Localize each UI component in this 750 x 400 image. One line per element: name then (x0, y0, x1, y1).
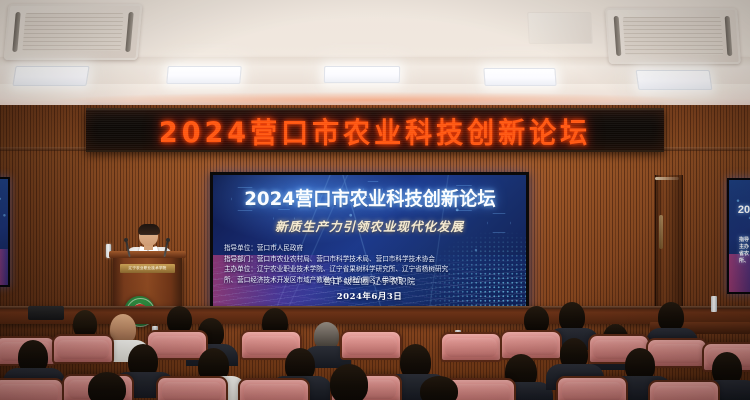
screen-content: 2024营口市农业科技创新论坛 新质生产力引领农业现代化发展 指导单位：营口市人… (213, 175, 526, 309)
desk-monitor (28, 306, 64, 320)
audience-head (88, 372, 126, 400)
auditorium-seat[interactable] (648, 380, 720, 400)
auditorium-seat[interactable] (156, 376, 228, 400)
podium-top-ledge (109, 251, 186, 258)
eyeglasses-icon (140, 234, 157, 239)
left-display-graphic-bottom (0, 249, 8, 285)
auditorium-seat[interactable] (556, 376, 628, 400)
screen-detail-line: 指导单位：营口市人民政府 (224, 244, 515, 254)
screen-venue-text: 营口·鲅鱼圈·辽宁农职院 (213, 276, 526, 287)
ceiling-panel-light (483, 68, 556, 86)
ceiling-ac-unit (605, 8, 741, 64)
right-display-detail-fragment: 省农 (729, 250, 750, 257)
led-scrolling-banner: 2024营口市农业科技创新论坛 (86, 108, 664, 152)
left-display-graphic-top (0, 179, 8, 245)
right-display-title-fragment: 20 (729, 204, 750, 216)
ceiling-panel-light (636, 70, 713, 90)
podium-nameplate-text: 辽宁农业职业技术学院 (129, 266, 167, 271)
screen-detail-line: 主办单位：辽宁农业职业技术学院、辽宁省果树科学研究所、辽宁省杨树研究 (224, 265, 515, 275)
screen-detail-line: 指导部门：营口市农业农村局、营口市科学技术局、营口市科学技术协会 (224, 255, 515, 265)
ac-grille-icon (623, 17, 723, 54)
ac-grille-icon (22, 13, 124, 50)
audience-head (330, 364, 368, 400)
ceiling-panel-light (166, 66, 242, 84)
right-display-detail-fragment: 指导 (729, 236, 750, 243)
ac-louver-bar (125, 12, 133, 52)
auditorium-seat[interactable] (340, 330, 402, 360)
auditorium-seat[interactable] (0, 378, 64, 400)
screen-title: 2024营口市农业科技创新论坛 (244, 184, 495, 211)
auditorium-seat[interactable] (500, 330, 562, 360)
ceiling-panel-light (324, 66, 400, 83)
main-led-screen: 2024营口市农业科技创新论坛 新质生产力引领农业现代化发展 指导单位：营口市人… (210, 172, 529, 312)
left-side-display (0, 177, 10, 287)
ceiling-vent (527, 12, 593, 44)
right-side-display: 20 指导 主办 省农 所、 (727, 178, 750, 294)
ac-louver-bar (614, 16, 622, 56)
podium-nameplate: 辽宁农业职业技术学院 (120, 264, 175, 273)
screen-subtitle: 新质生产力引领农业现代化发展 (275, 216, 464, 235)
auditorium-seat[interactable] (52, 334, 114, 364)
ac-louver-bar (725, 16, 733, 56)
ac-louver-bar (12, 12, 20, 52)
right-display-detail-fragment: 主办 (729, 243, 750, 250)
microphone-head-icon (166, 238, 170, 242)
auditorium-seat[interactable] (646, 338, 708, 368)
ceiling (0, 0, 750, 112)
auditorium-seat[interactable] (238, 378, 310, 400)
microphone-head-icon (124, 238, 128, 242)
conference-hall-photo: 2024营口市农业科技创新论坛 2024营口市农业科技创新论坛 新质生产力引领农… (0, 0, 750, 400)
desk-water-bottle (711, 296, 717, 312)
auditorium-seat[interactable] (440, 332, 502, 362)
screen-date-text: 2024年6月3日 (213, 290, 526, 302)
screen-footer: 营口·鲅鱼圈·辽宁农职院 2024年6月3日 (213, 276, 526, 302)
door-handle[interactable] (659, 215, 663, 249)
door-light-gleam (655, 177, 679, 180)
led-banner-text: 2024营口市农业科技创新论坛 (159, 110, 591, 151)
ceiling-panel-light (12, 66, 89, 86)
ceiling-ac-unit (4, 4, 143, 60)
right-display-detail-fragment: 所、 (729, 257, 750, 264)
audience-head (420, 376, 458, 400)
